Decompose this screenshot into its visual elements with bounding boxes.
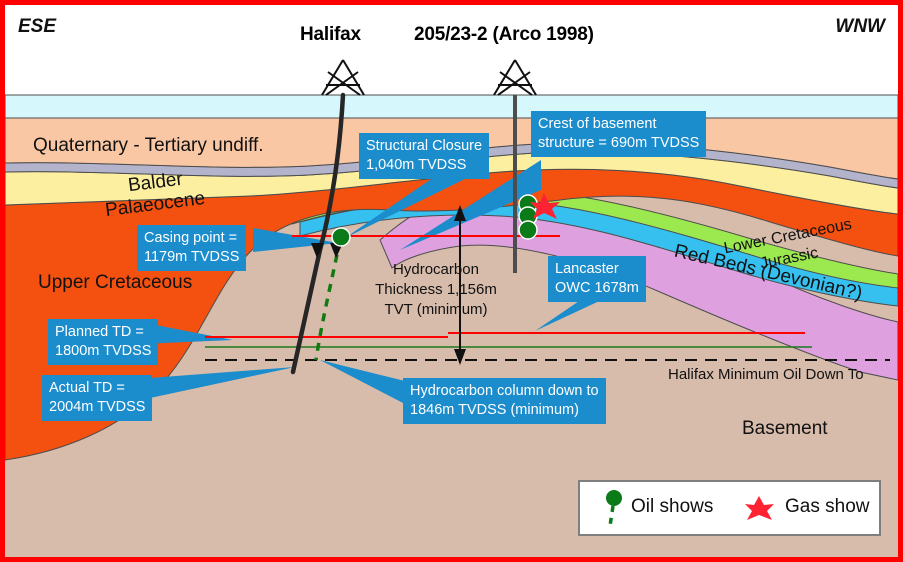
figure-border bbox=[0, 0, 903, 562]
cross-section-figure: ESE WNW Halifax 205/23-2 (Arco 1998) Qua… bbox=[0, 0, 903, 562]
